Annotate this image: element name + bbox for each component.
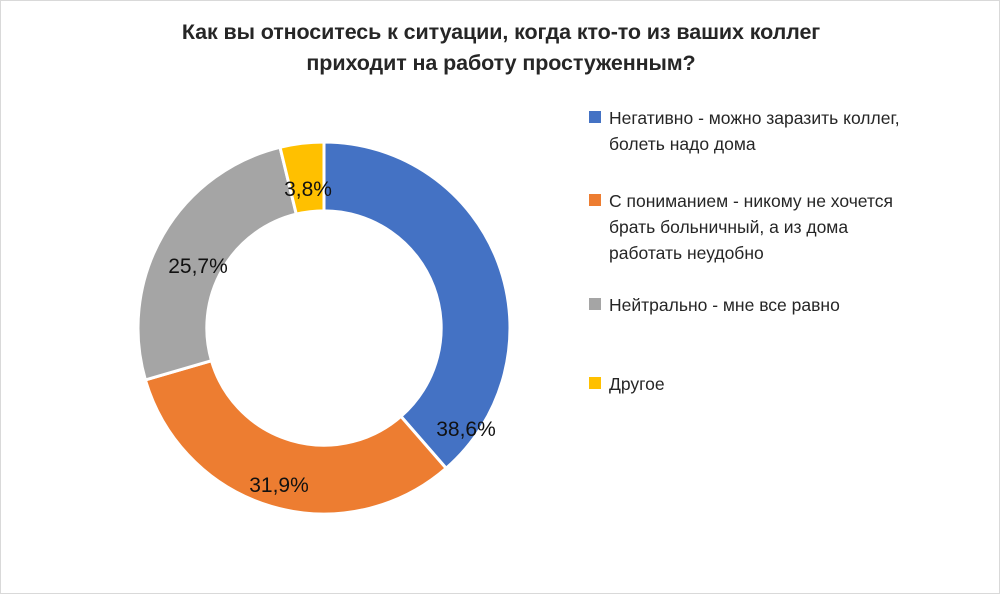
legend-label-line: Другое — [609, 371, 665, 397]
chart-title-line-1: Как вы относитесь к ситуации, когда кто-… — [111, 17, 891, 48]
legend-item[interactable]: Нейтрально - мне все равно — [589, 292, 989, 318]
legend-label: Другое — [609, 371, 665, 397]
donut-slices — [138, 142, 510, 514]
chart-title: Как вы относитесь к ситуации, когда кто-… — [111, 17, 891, 79]
chart-page: Как вы относитесь к ситуации, когда кто-… — [0, 0, 1000, 594]
chart-legend: Негативно - можно заразить коллег,болеть… — [589, 105, 989, 397]
legend-label-line: С пониманием - никому не хочется — [609, 188, 893, 214]
legend-item[interactable]: Другое — [589, 371, 989, 397]
legend-item[interactable]: С пониманием - никому не хочетсябрать бо… — [589, 188, 989, 267]
legend-label-line: болеть надо дома — [609, 131, 900, 157]
legend-swatch-icon — [589, 377, 601, 389]
donut-chart: 38,6%31,9%25,7%3,8% — [135, 139, 513, 517]
donut-slice[interactable] — [324, 142, 510, 468]
legend-label: С пониманием - никому не хочетсябрать бо… — [609, 188, 893, 267]
legend-label-line: Негативно - можно заразить коллег, — [609, 105, 900, 131]
legend-label-line: брать больничный, а из дома — [609, 214, 893, 240]
legend-swatch-icon — [589, 298, 601, 310]
legend-label-line: Нейтрально - мне все равно — [609, 292, 840, 318]
donut-svg — [135, 139, 513, 517]
legend-swatch-icon — [589, 111, 601, 123]
legend-label-line: работать неудобно — [609, 240, 893, 266]
legend-swatch-icon — [589, 194, 601, 206]
legend-label: Негативно - можно заразить коллег,болеть… — [609, 105, 900, 158]
donut-slice[interactable] — [145, 361, 446, 514]
chart-title-line-2: приходит на работу простуженным? — [111, 48, 891, 79]
donut-slice[interactable] — [138, 147, 296, 380]
legend-label: Нейтрально - мне все равно — [609, 292, 840, 318]
legend-item[interactable]: Негативно - можно заразить коллег,болеть… — [589, 105, 989, 158]
